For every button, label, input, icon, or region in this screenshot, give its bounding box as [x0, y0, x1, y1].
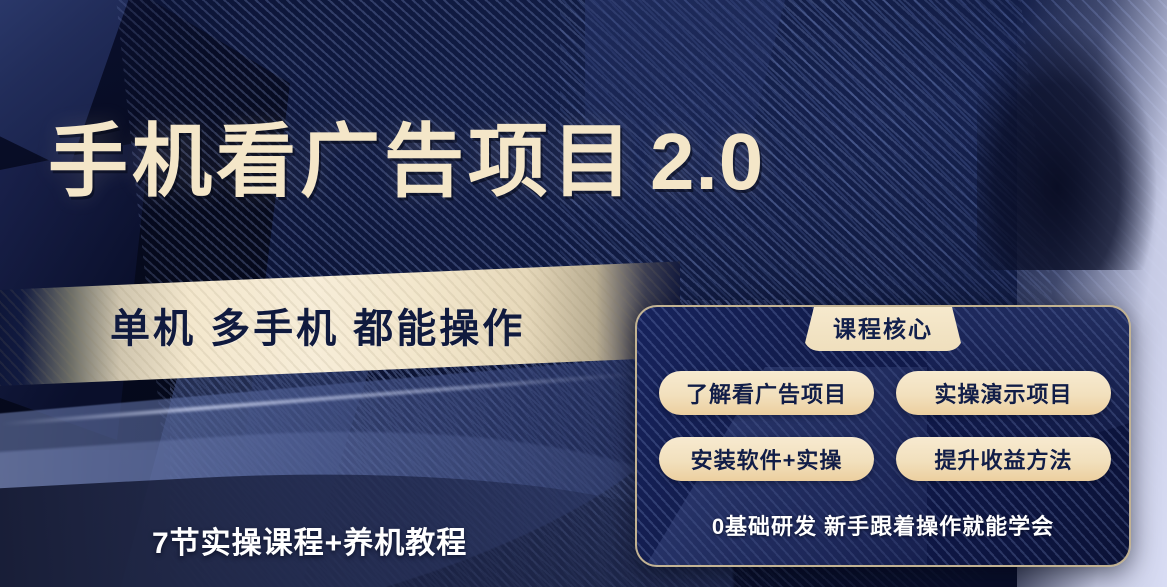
background-right-shadow: [977, 0, 1167, 270]
promo-poster: 单机 多手机 都能操作 手机看广告项目2.0 7节实操课程+养机教程 课程核心 …: [0, 0, 1167, 587]
course-feature-list: 了解看广告项目 实操演示项目 安装软件+实操 提升收益方法: [659, 371, 1111, 481]
panel-footer-text: 0基础研发 新手跟着操作就能学会: [637, 509, 1129, 541]
feature-pill-1[interactable]: 了解看广告项目: [659, 371, 874, 415]
bottom-caption: 7节实操课程+养机教程: [152, 518, 467, 562]
page-title: 手机看广告项目2.0: [48, 122, 764, 202]
subtitle-text: 单机 多手机 都能操作: [110, 286, 670, 364]
course-core-panel: 课程核心 了解看广告项目 实操演示项目 安装软件+实操 提升收益方法 0基础研发…: [635, 305, 1131, 567]
title-version-text: 2.0: [650, 117, 764, 206]
feature-pill-4[interactable]: 提升收益方法: [896, 437, 1111, 481]
course-core-badge: 课程核心: [803, 306, 963, 351]
title-main-text: 手机看广告项目: [48, 117, 636, 206]
feature-pill-2[interactable]: 实操演示项目: [896, 371, 1111, 415]
feature-pill-3[interactable]: 安装软件+实操: [659, 437, 874, 481]
